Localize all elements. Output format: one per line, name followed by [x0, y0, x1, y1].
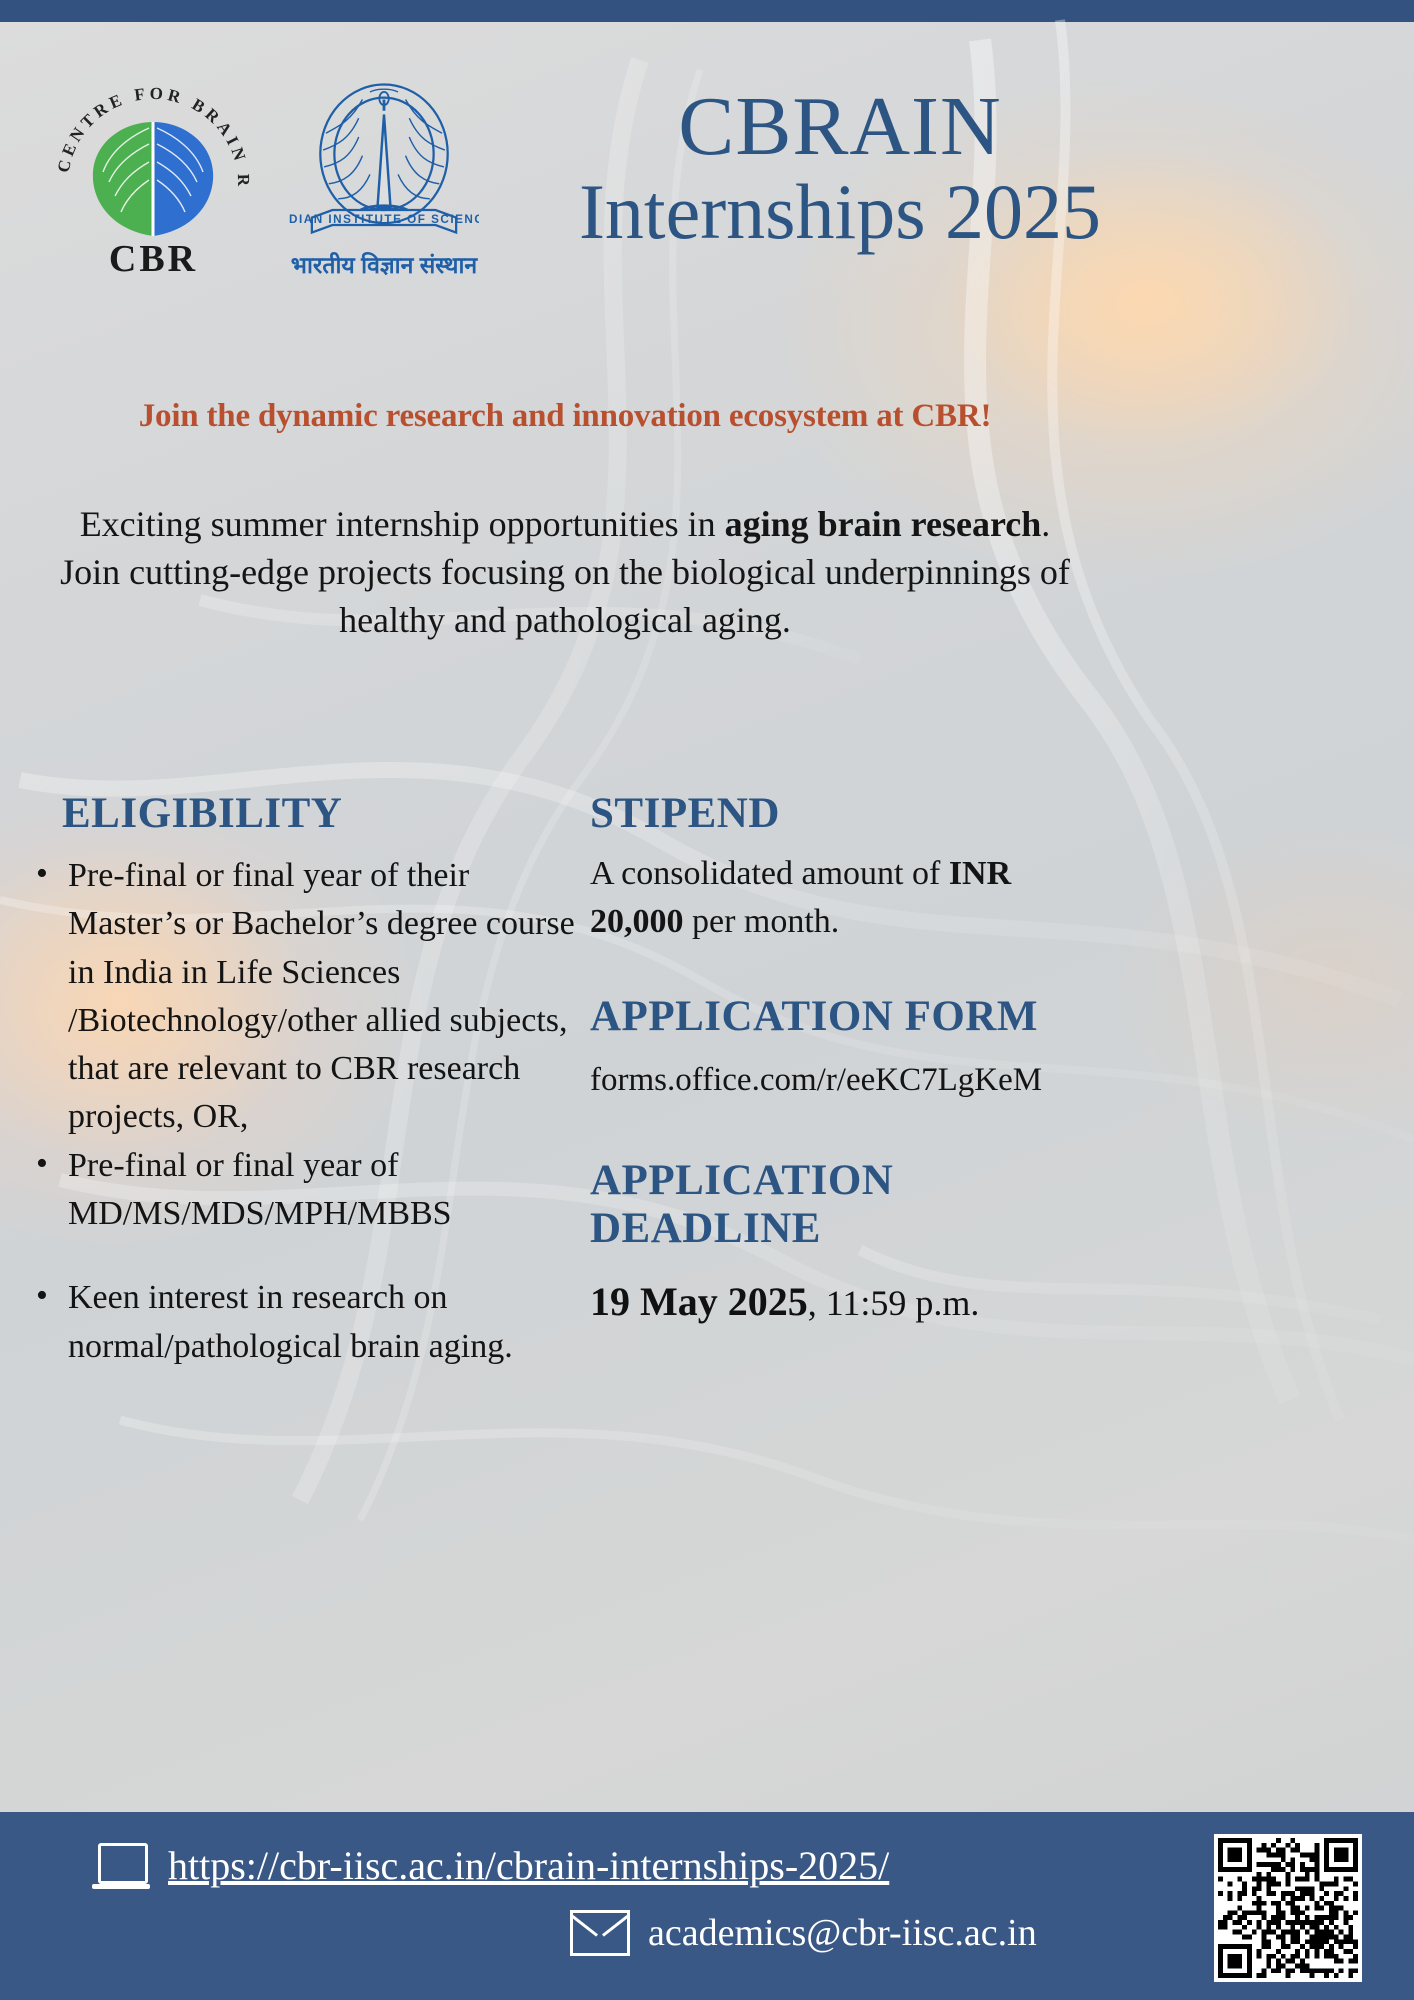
intro-bold-phrase: aging brain research — [725, 504, 1042, 544]
eligibility-section: ELIGIBILITY Pre-final or final year of t… — [28, 790, 588, 1371]
poster-root: CENTRE FOR BRAIN RESEARCH — [0, 0, 1414, 2000]
deadline-heading-line-1: APPLICATION — [590, 1157, 1110, 1205]
deadline-date: 19 May 2025 — [590, 1279, 808, 1324]
stipend-text-before: A consolidated amount of — [590, 855, 949, 892]
intro-paragraph: Exciting summer internship opportunities… — [60, 500, 1070, 645]
laptop-icon — [92, 1843, 150, 1889]
title-line-2: Internships 2025 — [560, 168, 1120, 255]
application-form-section: APPLICATION FORM forms.office.com/r/eeKC… — [590, 993, 1110, 1103]
poster-header: CENTRE FOR BRAIN RESEARCH — [0, 60, 1414, 285]
list-item: Pre-final or final year of MD/MS/MDS/MPH… — [28, 1142, 588, 1239]
list-item: Pre-final or final year of their Master’… — [28, 852, 588, 1142]
poster-title: CBRAIN Internships 2025 — [560, 86, 1120, 256]
tagline: Join the dynamic research and innovation… — [0, 398, 1130, 435]
eligibility-heading: ELIGIBILITY — [62, 790, 588, 838]
application-form-heading: APPLICATION FORM — [590, 993, 1110, 1041]
email-row[interactable]: academics@cbr-iisc.ac.in — [570, 1910, 1037, 1956]
iisc-logo: INDIAN INSTITUTE OF SCIENCE भारतीय विज्ञ… — [289, 77, 479, 282]
email-address[interactable]: academics@cbr-iisc.ac.in — [648, 1911, 1037, 1955]
top-accent-bar — [0, 0, 1414, 22]
cbr-logo: CENTRE FOR BRAIN RESEARCH — [46, 72, 261, 287]
eligibility-list: Pre-final or final year of their Master’… — [28, 852, 588, 1371]
title-line-1: CBRAIN — [560, 86, 1120, 168]
iisc-logo-text: भारतीय विज्ञान संस्थान — [279, 248, 489, 280]
poster-footer: https://cbr-iisc.ac.in/cbrain-internship… — [0, 1812, 1414, 2000]
stipend-section: STIPEND A consolidated amount of INR 20,… — [590, 790, 1110, 947]
deadline-heading-line-2: DEADLINE — [590, 1205, 1110, 1253]
list-item: Keen interest in research on normal/path… — [28, 1274, 588, 1371]
right-column: STIPEND A consolidated amount of INR 20,… — [590, 790, 1110, 1329]
stipend-text: A consolidated amount of INR 20,000 per … — [590, 850, 1110, 947]
iisc-ribbon-text: INDIAN INSTITUTE OF SCIENCE — [289, 213, 479, 226]
stipend-heading: STIPEND — [590, 790, 1110, 838]
deadline-time: , 11:59 p.m. — [808, 1283, 980, 1323]
iisc-logo-mark: INDIAN INSTITUTE OF SCIENCE — [289, 77, 479, 255]
deadline-value: 19 May 2025, 11:59 p.m. — [590, 1275, 1110, 1329]
application-form-url[interactable]: forms.office.com/r/eeKC7LgKeM — [590, 1057, 1110, 1103]
logo-group: CENTRE FOR BRAIN RESEARCH — [46, 72, 479, 287]
cbr-logo-text: CBR — [46, 237, 261, 281]
deadline-section: APPLICATION DEADLINE 19 May 2025, 11:59 … — [590, 1157, 1110, 1329]
qr-code[interactable] — [1214, 1834, 1362, 1982]
website-link[interactable]: https://cbr-iisc.ac.in/cbrain-internship… — [168, 1842, 889, 1889]
envelope-icon — [570, 1910, 630, 1956]
website-row[interactable]: https://cbr-iisc.ac.in/cbrain-internship… — [92, 1842, 889, 1889]
intro-part-1: Exciting summer internship opportunities… — [80, 504, 725, 544]
stipend-text-after: per month. — [684, 903, 840, 940]
